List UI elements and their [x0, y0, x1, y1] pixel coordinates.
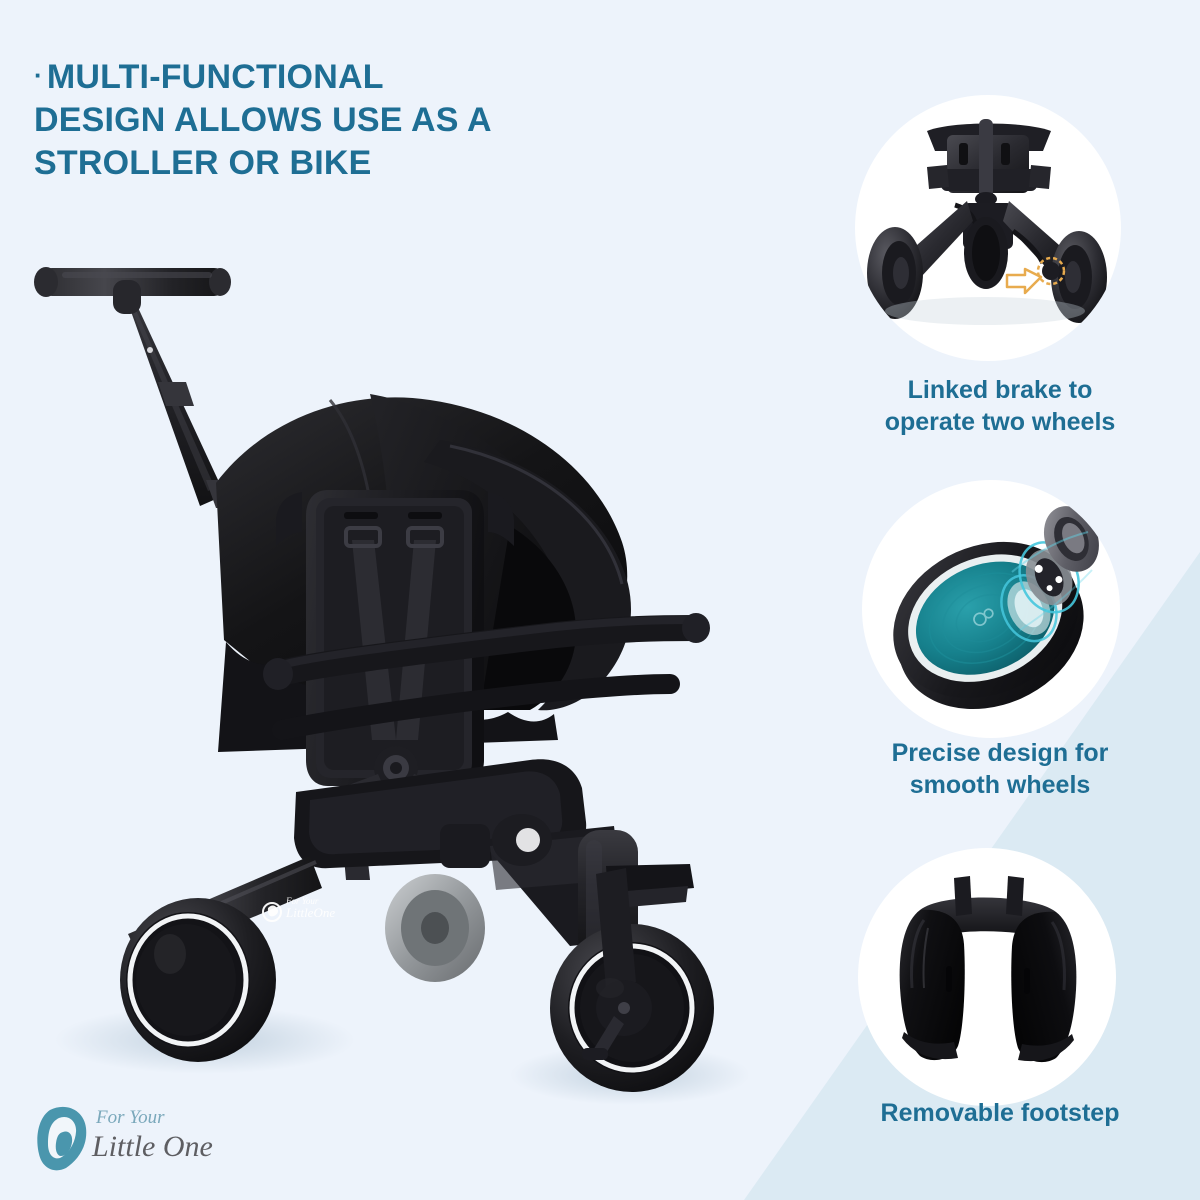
push-handle — [34, 267, 246, 508]
callout-wheel-image-disc — [862, 480, 1120, 738]
callout-removable-footstep: Removable footstep — [830, 840, 1170, 1170]
callout-linked-brake: Linked brake to operate two wheels — [830, 60, 1170, 480]
footstep-illustration — [858, 848, 1116, 1106]
mother-and-child-icon — [37, 1107, 86, 1170]
callout-footstep-image-disc — [858, 848, 1116, 1106]
callout-precise-wheel: Precise design for smooth wheels — [830, 470, 1170, 830]
promo-image-canvas: ·MULTI-FUNCTIONAL DESIGN ALLOWS USE AS A… — [0, 0, 1200, 1200]
callout-brake-caption: Linked brake to operate two wheels — [830, 375, 1170, 438]
svg-text:LittleOne: LittleOne — [285, 905, 335, 920]
callout-wheel-caption: Precise design for smooth wheels — [830, 738, 1170, 801]
headline-line-1: MULTI-FUNCTIONAL — [47, 58, 384, 96]
brand-logo: For Your Little One — [32, 1098, 242, 1176]
brand-logo-line1: For Your — [95, 1107, 165, 1128]
product-hero-image: For Your LittleOne — [10, 240, 790, 1170]
brand-logo-mark: For Your Little One — [32, 1098, 242, 1176]
wheel-bearing-illustration — [862, 480, 1120, 738]
callout-wheel-caption-line1: Precise design for — [892, 739, 1109, 767]
middle-wheel — [385, 874, 485, 982]
callout-brake-image-disc — [855, 95, 1121, 361]
brake-arrow-icon — [1007, 269, 1041, 293]
brand-logo-line2: Little One — [91, 1130, 213, 1163]
chassis-brake-illustration — [855, 95, 1121, 361]
callout-footstep-caption: Removable footstep — [830, 1098, 1170, 1130]
headline-line-3: STROLLER OR BIKE — [34, 144, 372, 182]
callout-brake-caption-line1: Linked brake to — [908, 376, 1093, 404]
callout-wheel-caption-line2: smooth wheels — [910, 771, 1091, 799]
rear-wheel — [120, 898, 276, 1062]
callout-brake-caption-line2: operate two wheels — [885, 408, 1116, 436]
headline-line-2: DESIGN ALLOWS USE AS A — [34, 101, 492, 139]
headline-bullet-icon: · — [34, 62, 43, 88]
callout-footstep-caption-line1: Removable footstep — [881, 1099, 1120, 1127]
page-title: ·MULTI-FUNCTIONAL DESIGN ALLOWS USE AS A… — [34, 56, 594, 184]
